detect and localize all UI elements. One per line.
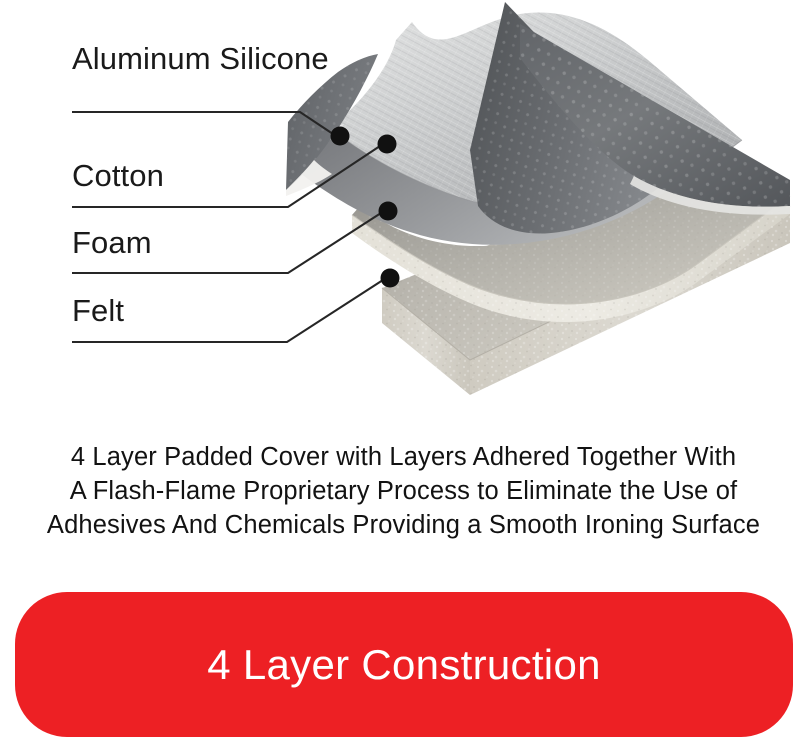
construction-banner: 4 Layer Construction [15, 592, 793, 737]
description-line-2: A Flash-Flame Proprietary Process to Eli… [0, 474, 807, 508]
callout-label-felt: Felt [72, 295, 124, 326]
product-layer-infographic: Aluminum Silicone Cotton Foam Felt 4 Lay… [0, 0, 807, 747]
callout-label-aluminum-silicone: Aluminum Silicone [72, 43, 329, 74]
banner-title: 4 Layer Construction [207, 644, 601, 686]
callout-label-foam: Foam [72, 227, 152, 258]
callout-label-cotton: Cotton [72, 160, 164, 191]
description-line-1: 4 Layer Padded Cover with Layers Adhered… [0, 440, 807, 474]
description-line-3: Adhesives And Chemicals Providing a Smoo… [0, 508, 807, 542]
callout-label-group: Aluminum Silicone Cotton Foam Felt [0, 0, 807, 420]
description-text: 4 Layer Padded Cover with Layers Adhered… [0, 440, 807, 542]
